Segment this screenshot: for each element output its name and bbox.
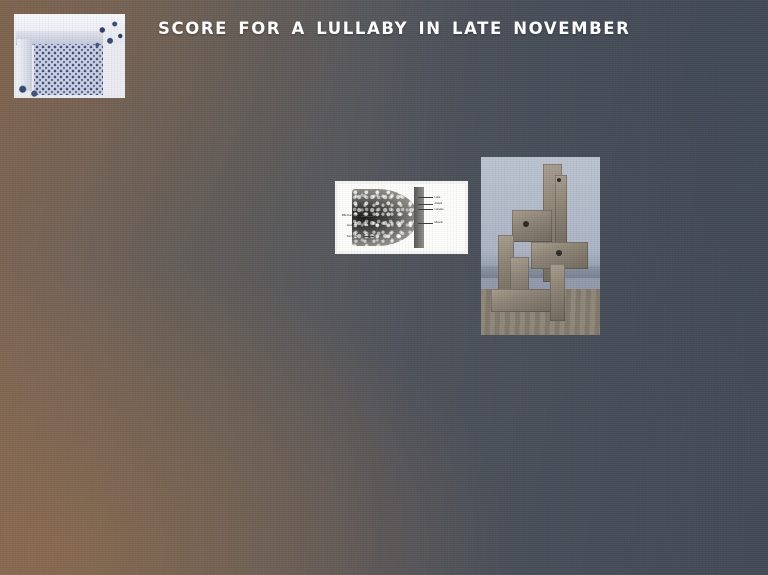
wooden-sculpture-photo	[481, 157, 600, 335]
diagram-leader-line	[418, 223, 433, 224]
diagram-leader-line	[363, 236, 373, 237]
poster-canvas: SCORE FOR A LULLABY IN LATE NOVEMBER Lob…	[0, 0, 768, 575]
sculpture-bolt-hole	[556, 250, 562, 256]
diagram-field: Lobe Alveoli Lobules Muscle Milk Duct (l…	[338, 184, 465, 251]
diagram-leader-line	[418, 209, 433, 210]
sculpture-beam	[512, 210, 552, 242]
diagram-leader-line	[418, 197, 433, 198]
diagram-label: Areola	[347, 224, 355, 227]
diagram-label: Alveoli	[435, 202, 443, 205]
diagram-tissue-mass	[352, 189, 418, 245]
photo-tree-region	[93, 16, 124, 56]
diagram-label: Muscle	[435, 221, 443, 224]
sculpture-beam	[555, 175, 567, 250]
sculpture-bolt-hole	[523, 221, 529, 227]
sculpture-beam	[550, 264, 565, 321]
diagram-label: Fat Cells	[347, 235, 357, 238]
photo-bush-region	[14, 76, 43, 98]
page-title: SCORE FOR A LULLABY IN LATE NOVEMBER	[158, 19, 630, 38]
diagram-label: Lobules	[435, 208, 444, 211]
breast-cross-section-diagram: Lobe Alveoli Lobules Muscle Milk Duct (l…	[335, 181, 468, 254]
diagram-leader-line	[363, 226, 373, 227]
diagram-label: Lobe	[435, 196, 441, 199]
diagram-leader-line	[418, 204, 433, 205]
diagram-chest-wall	[414, 187, 424, 249]
sculpture-beam	[491, 289, 553, 312]
breeze-block-building-photo	[14, 14, 125, 98]
diagram-label: Milk Duct (lactiferous sinus)	[342, 214, 374, 217]
